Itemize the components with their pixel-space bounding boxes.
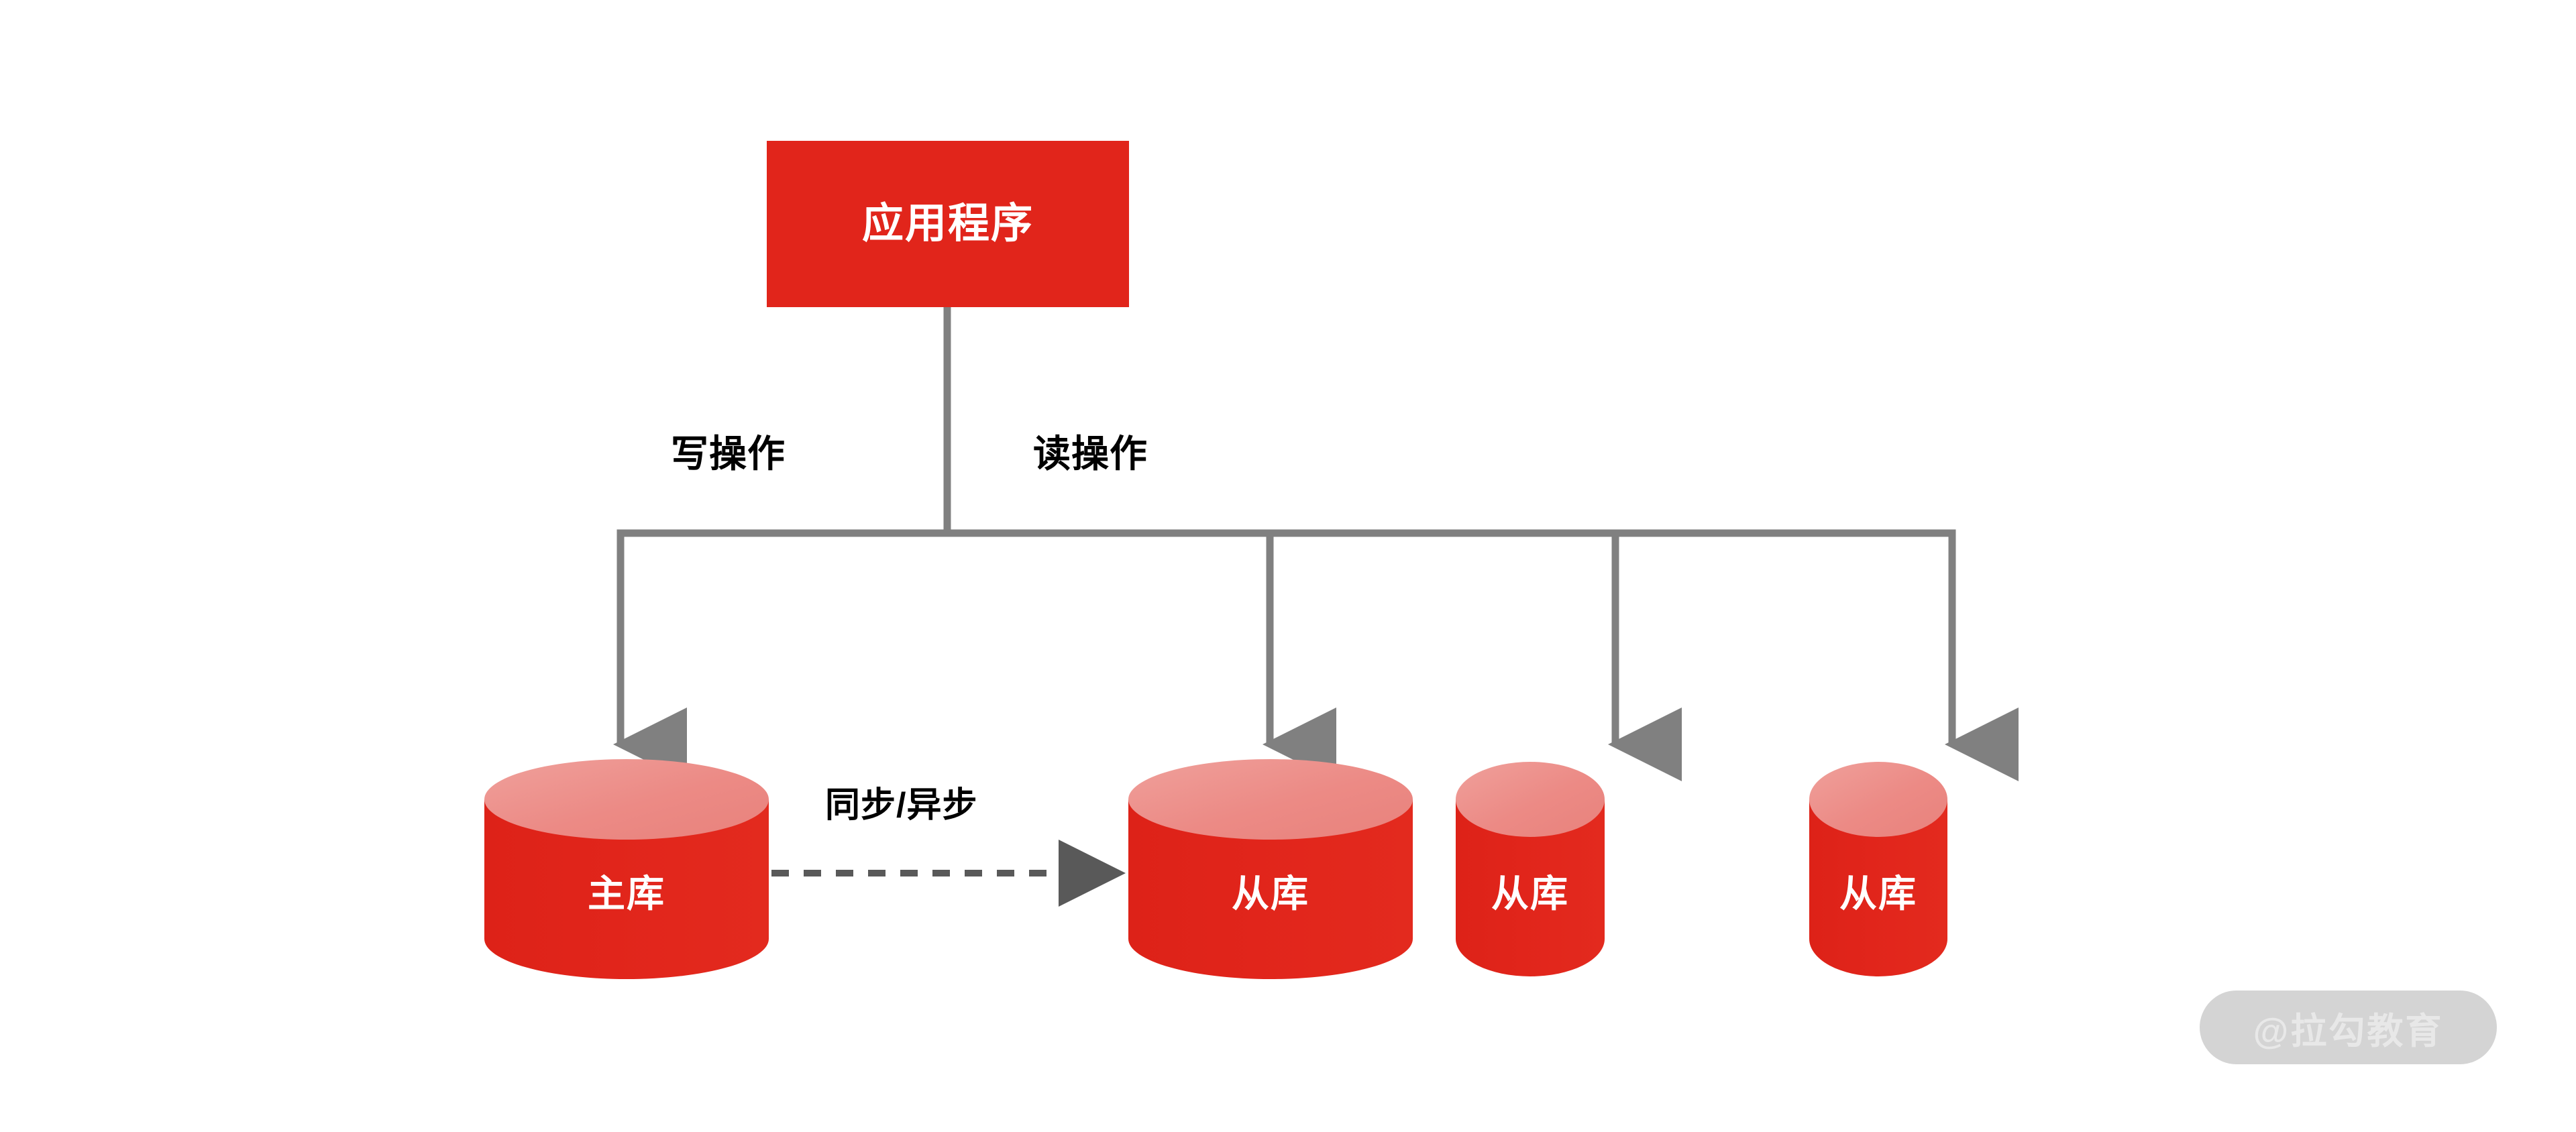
edge-label-write: 写操作 — [671, 431, 859, 477]
edge-label-replication: 同步/异步 — [825, 783, 1080, 828]
watermark-badge: @拉勾教育 — [2200, 990, 2497, 1064]
db-master-node[interactable] — [484, 759, 769, 979]
connector-tree — [621, 307, 1952, 744]
diagram-connectors-layer — [0, 0, 2576, 1132]
diagram-canvas: 应用程序 写操作 读操作 同步/异步 主库 从库 从库 从库 @拉勾教育 — [0, 0, 2576, 1132]
db-slave-3-node[interactable] — [1809, 762, 1947, 976]
app-node[interactable] — [767, 141, 1129, 307]
db-slave-1-node[interactable] — [1128, 759, 1413, 979]
db-slave-2-node[interactable] — [1456, 762, 1605, 976]
edge-label-read: 读操作 — [1033, 431, 1221, 477]
watermark-label: @拉勾教育 — [2253, 1001, 2444, 1054]
